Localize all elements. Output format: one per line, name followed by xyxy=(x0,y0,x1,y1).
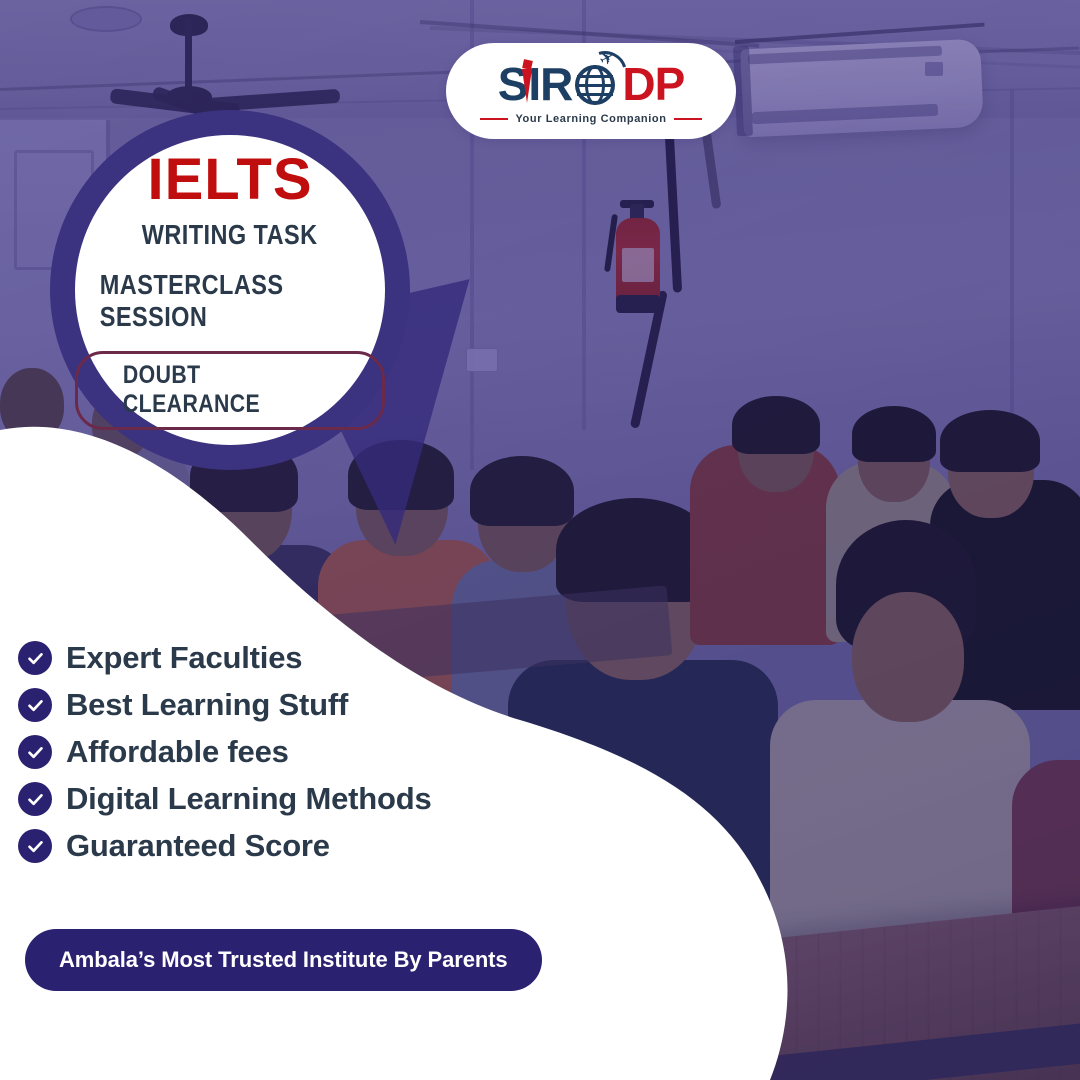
necktie-icon xyxy=(522,60,532,104)
check-circle-icon xyxy=(18,641,52,675)
logo-letters-ir: IR xyxy=(528,61,572,107)
logo-wordmark: S IR ✈ DP xyxy=(498,58,685,110)
feature-label: Guaranteed Score xyxy=(66,828,330,864)
feature-list: Expert Faculties Best Learning Stuff Aff… xyxy=(18,640,432,864)
doubt-clearance-label: DOUBT CLEARANCE xyxy=(123,361,337,419)
logo-tagline: Your Learning Companion xyxy=(515,113,666,125)
check-circle-icon xyxy=(18,829,52,863)
ielts-title: IELTS xyxy=(147,151,312,209)
feature-item: Guaranteed Score xyxy=(18,828,432,864)
check-circle-icon xyxy=(18,735,52,769)
feature-label: Best Learning Stuff xyxy=(66,687,348,723)
trust-banner-label: Ambala’s Most Trusted Institute By Paren… xyxy=(59,947,508,972)
feature-label: Affordable fees xyxy=(66,734,289,770)
feature-item: Best Learning Stuff xyxy=(18,687,432,723)
necktie-body xyxy=(522,69,532,103)
bubble-line-1: WRITING TASK xyxy=(142,219,318,251)
globe-icon: ✈ xyxy=(573,61,619,107)
tagline-rule-left xyxy=(480,118,508,120)
feature-label: Expert Faculties xyxy=(66,640,302,676)
feature-label: Digital Learning Methods xyxy=(66,781,432,817)
logo-tagline-row: Your Learning Companion xyxy=(480,113,701,125)
feature-item: Expert Faculties xyxy=(18,640,432,676)
check-circle-icon xyxy=(18,782,52,816)
check-circle-icon xyxy=(18,688,52,722)
speech-bubble: IELTS WRITING TASK MASTERCLASS SESSION D… xyxy=(75,135,385,445)
trust-banner[interactable]: Ambala’s Most Trusted Institute By Paren… xyxy=(25,929,542,991)
doubt-clearance-pill[interactable]: DOUBT CLEARANCE xyxy=(75,351,385,430)
ielts-promo-poster: IELTS WRITING TASK MASTERCLASS SESSION D… xyxy=(0,0,1080,1080)
brand-logo[interactable]: S IR ✈ DP Your Learning Companion xyxy=(446,43,736,139)
tagline-rule-right xyxy=(674,118,702,120)
feature-item: Digital Learning Methods xyxy=(18,781,432,817)
bubble-line-2: MASTERCLASS SESSION xyxy=(100,269,360,333)
logo-letters-dp: DP xyxy=(622,61,684,107)
feature-item: Affordable fees xyxy=(18,734,432,770)
